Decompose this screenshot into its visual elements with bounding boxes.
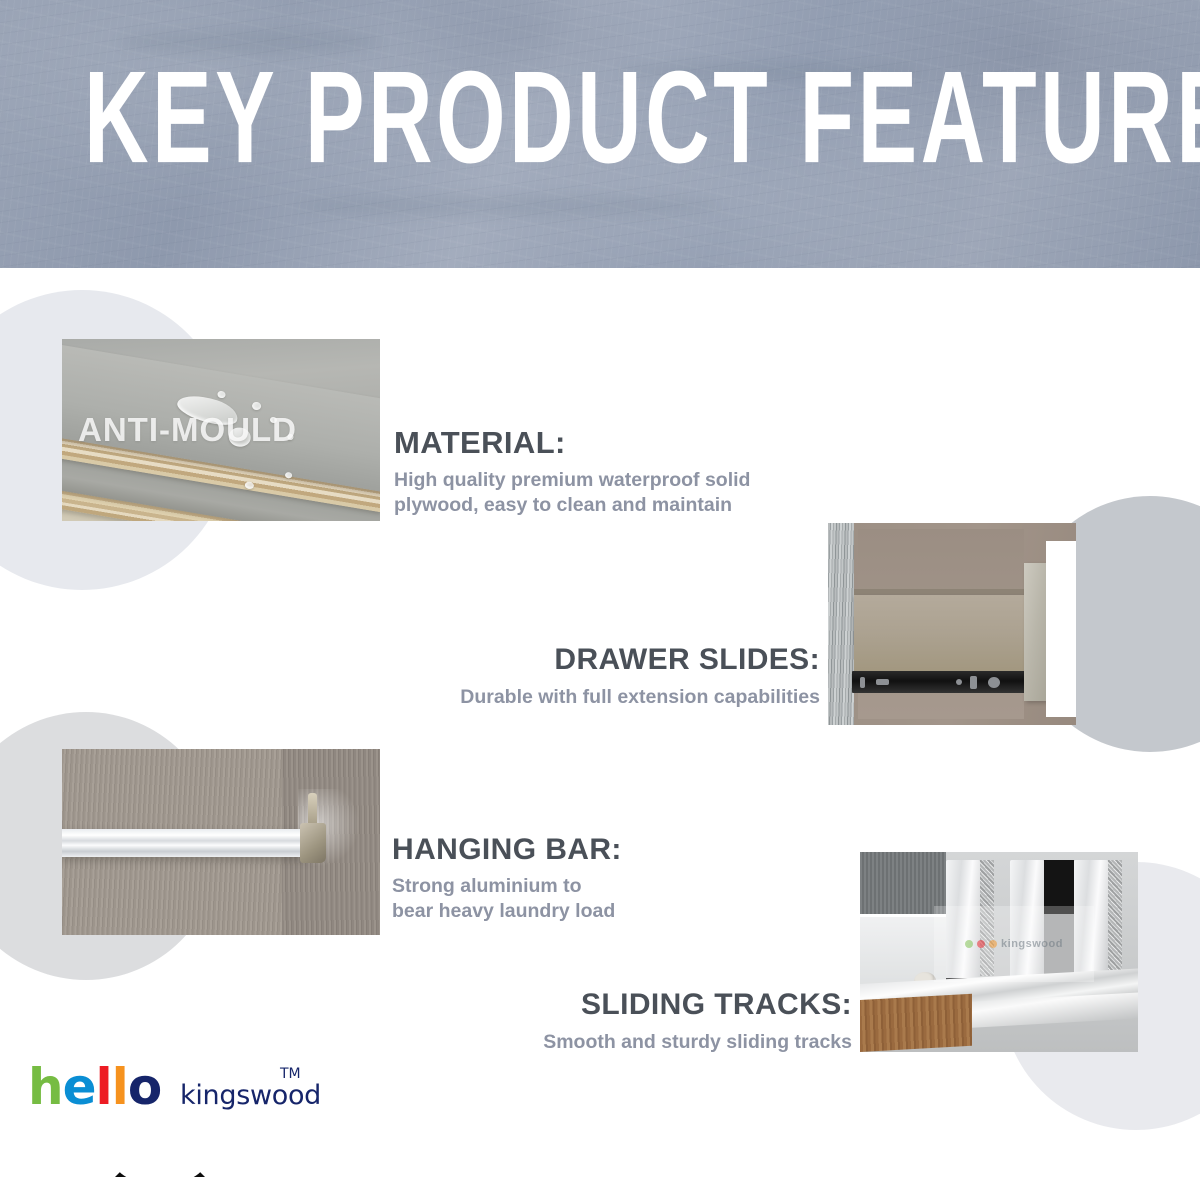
sliding-door-core <box>1108 860 1122 976</box>
logo-smile-icon <box>94 1120 226 1177</box>
sliding-wood-floor <box>860 994 972 1052</box>
logo-letter-o: o <box>128 1062 161 1112</box>
material-description-line1: High quality premium waterproof solid <box>394 468 750 493</box>
brand-logo: h e l l o kingswood TM <box>28 1062 328 1170</box>
hanging-bar-description-line2: bear heavy laundry load <box>392 899 622 924</box>
drawer-box <box>854 595 1032 673</box>
hanging-bar-photo <box>62 749 380 935</box>
drawer-slides-description-line1: Durable with full extension capabilities <box>328 685 820 710</box>
logo-letter-h: h <box>28 1062 63 1112</box>
rail-detail <box>988 677 1000 688</box>
photo-watermark: kingswood <box>934 906 1094 982</box>
watermark-dot-green <box>965 940 973 948</box>
drawer-slides-title: DRAWER SLIDES: <box>328 643 820 677</box>
logo-letter-e: e <box>63 1062 96 1112</box>
material-text-block: MATERIAL: High quality premium waterproo… <box>394 425 750 518</box>
rail-detail <box>860 677 865 688</box>
water-droplet <box>251 401 261 410</box>
header-streak <box>300 196 720 216</box>
logo-letter-l-red: l <box>96 1062 112 1112</box>
rail-detail <box>956 679 962 685</box>
hanging-bar-title: HANGING BAR: <box>392 833 622 867</box>
page-title: KEY PRODUCT FEATURES <box>84 44 1116 193</box>
watermark-text: kingswood <box>1001 938 1063 950</box>
sliding-tracks-title: SLIDING TRACKS: <box>352 988 852 1022</box>
drawer-slide-rail <box>852 671 1036 693</box>
rail-detail <box>970 676 977 689</box>
hanging-bar-screw <box>308 793 317 827</box>
logo-letter-l-orange: l <box>112 1062 128 1112</box>
drawer-photo-whitespace <box>1046 541 1076 717</box>
sliding-tracks-photo: kingswood <box>860 852 1138 1052</box>
aluminium-hanging-bar <box>62 829 312 857</box>
infographic-page: KEY PRODUCT FEATURES ANTI-MOULD MATERIAL… <box>0 0 1200 1177</box>
material-photo: ANTI-MOULD <box>62 339 380 521</box>
rail-detail <box>876 679 889 685</box>
water-droplet <box>217 390 226 398</box>
watermark-dot-orange <box>989 940 997 948</box>
hanging-bar-text-block: HANGING BAR: Strong aluminium to bear he… <box>392 833 622 924</box>
sliding-dark-panel <box>860 852 946 914</box>
hanging-bar-bracket <box>300 823 326 863</box>
material-description-line2: plywood, easy to clean and maintain <box>394 493 750 518</box>
sliding-tracks-description-line1: Smooth and sturdy sliding tracks <box>352 1030 852 1055</box>
logo-wordmark: h e l l o <box>28 1062 161 1112</box>
logo-brand-name: kingswood <box>180 1080 321 1111</box>
watermark-dot-red <box>977 940 985 948</box>
drawer-slides-photo <box>828 523 1076 725</box>
drawer-front-panel <box>1024 563 1046 701</box>
anti-mould-label: ANTI-MOULD <box>78 411 297 449</box>
hanging-bar-description-line1: Strong aluminium to <box>392 874 622 899</box>
material-title: MATERIAL: <box>394 425 750 461</box>
sliding-tracks-text-block: SLIDING TRACKS: Smooth and sturdy slidin… <box>352 988 852 1055</box>
header-banner: KEY PRODUCT FEATURES <box>0 0 1200 268</box>
drawer-side-post <box>828 523 854 725</box>
trademark-symbol: TM <box>280 1066 301 1082</box>
drawer-slides-text-block: DRAWER SLIDES: Durable with full extensi… <box>328 643 820 710</box>
